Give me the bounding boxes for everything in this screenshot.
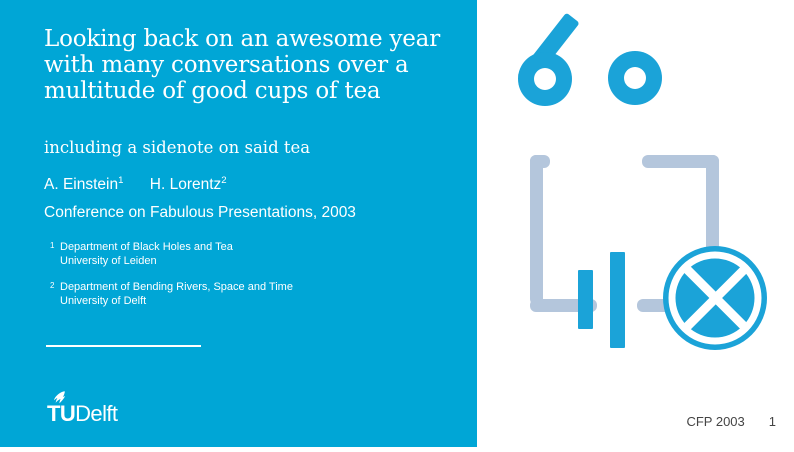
crossed-circle-symbol [663, 246, 767, 350]
page-subtitle: including a sidenote on said tea [44, 138, 454, 158]
affiliation-department: Department of Bending Rivers, Space and … [60, 280, 460, 294]
footer-label: CFP 2003 [686, 414, 744, 429]
conference-line: Conference on Fabulous Presentations, 20… [44, 203, 464, 223]
author-name: A. Einstein [44, 176, 118, 193]
affiliation-university: University of Delft [60, 294, 460, 308]
switch-symbol [517, 13, 662, 106]
circuit-diagram-illustration [477, 0, 794, 447]
affiliation-list: 1 Department of Black Holes and Tea Univ… [50, 240, 460, 320]
affiliation-item: 2 Department of Bending Rivers, Space an… [50, 280, 460, 308]
slide-footer: CFP 20031 [686, 414, 776, 429]
author-list: A. Einstein1 H. Lorentz2 [44, 175, 454, 195]
page-number: 1 [769, 414, 776, 429]
logo-text-delft: Delft [75, 401, 117, 426]
affiliation-university: University of Leiden [60, 254, 460, 268]
title-slide: Looking back on an awesome year with man… [0, 0, 794, 447]
author-entry: A. Einstein1 [44, 176, 123, 193]
page-title: Looking back on an awesome year with man… [44, 26, 444, 104]
author-affiliation-mark: 2 [221, 175, 226, 186]
affiliation-item: 1 Department of Black Holes and Tea Univ… [50, 240, 460, 268]
capacitor-symbol [578, 252, 625, 348]
author-name: H. Lorentz [150, 176, 222, 193]
horizontal-rule [46, 345, 201, 347]
author-affiliation-mark: 1 [118, 175, 123, 186]
logo-text-tu: TU [47, 401, 75, 426]
author-entry: H. Lorentz2 [150, 176, 227, 193]
affiliation-mark: 2 [50, 280, 54, 292]
title-panel: Looking back on an awesome year with man… [0, 0, 477, 447]
affiliation-department: Department of Black Holes and Tea [60, 240, 460, 254]
affiliation-mark: 1 [50, 240, 54, 252]
tudelft-wordmark: TUDelft [47, 401, 117, 427]
